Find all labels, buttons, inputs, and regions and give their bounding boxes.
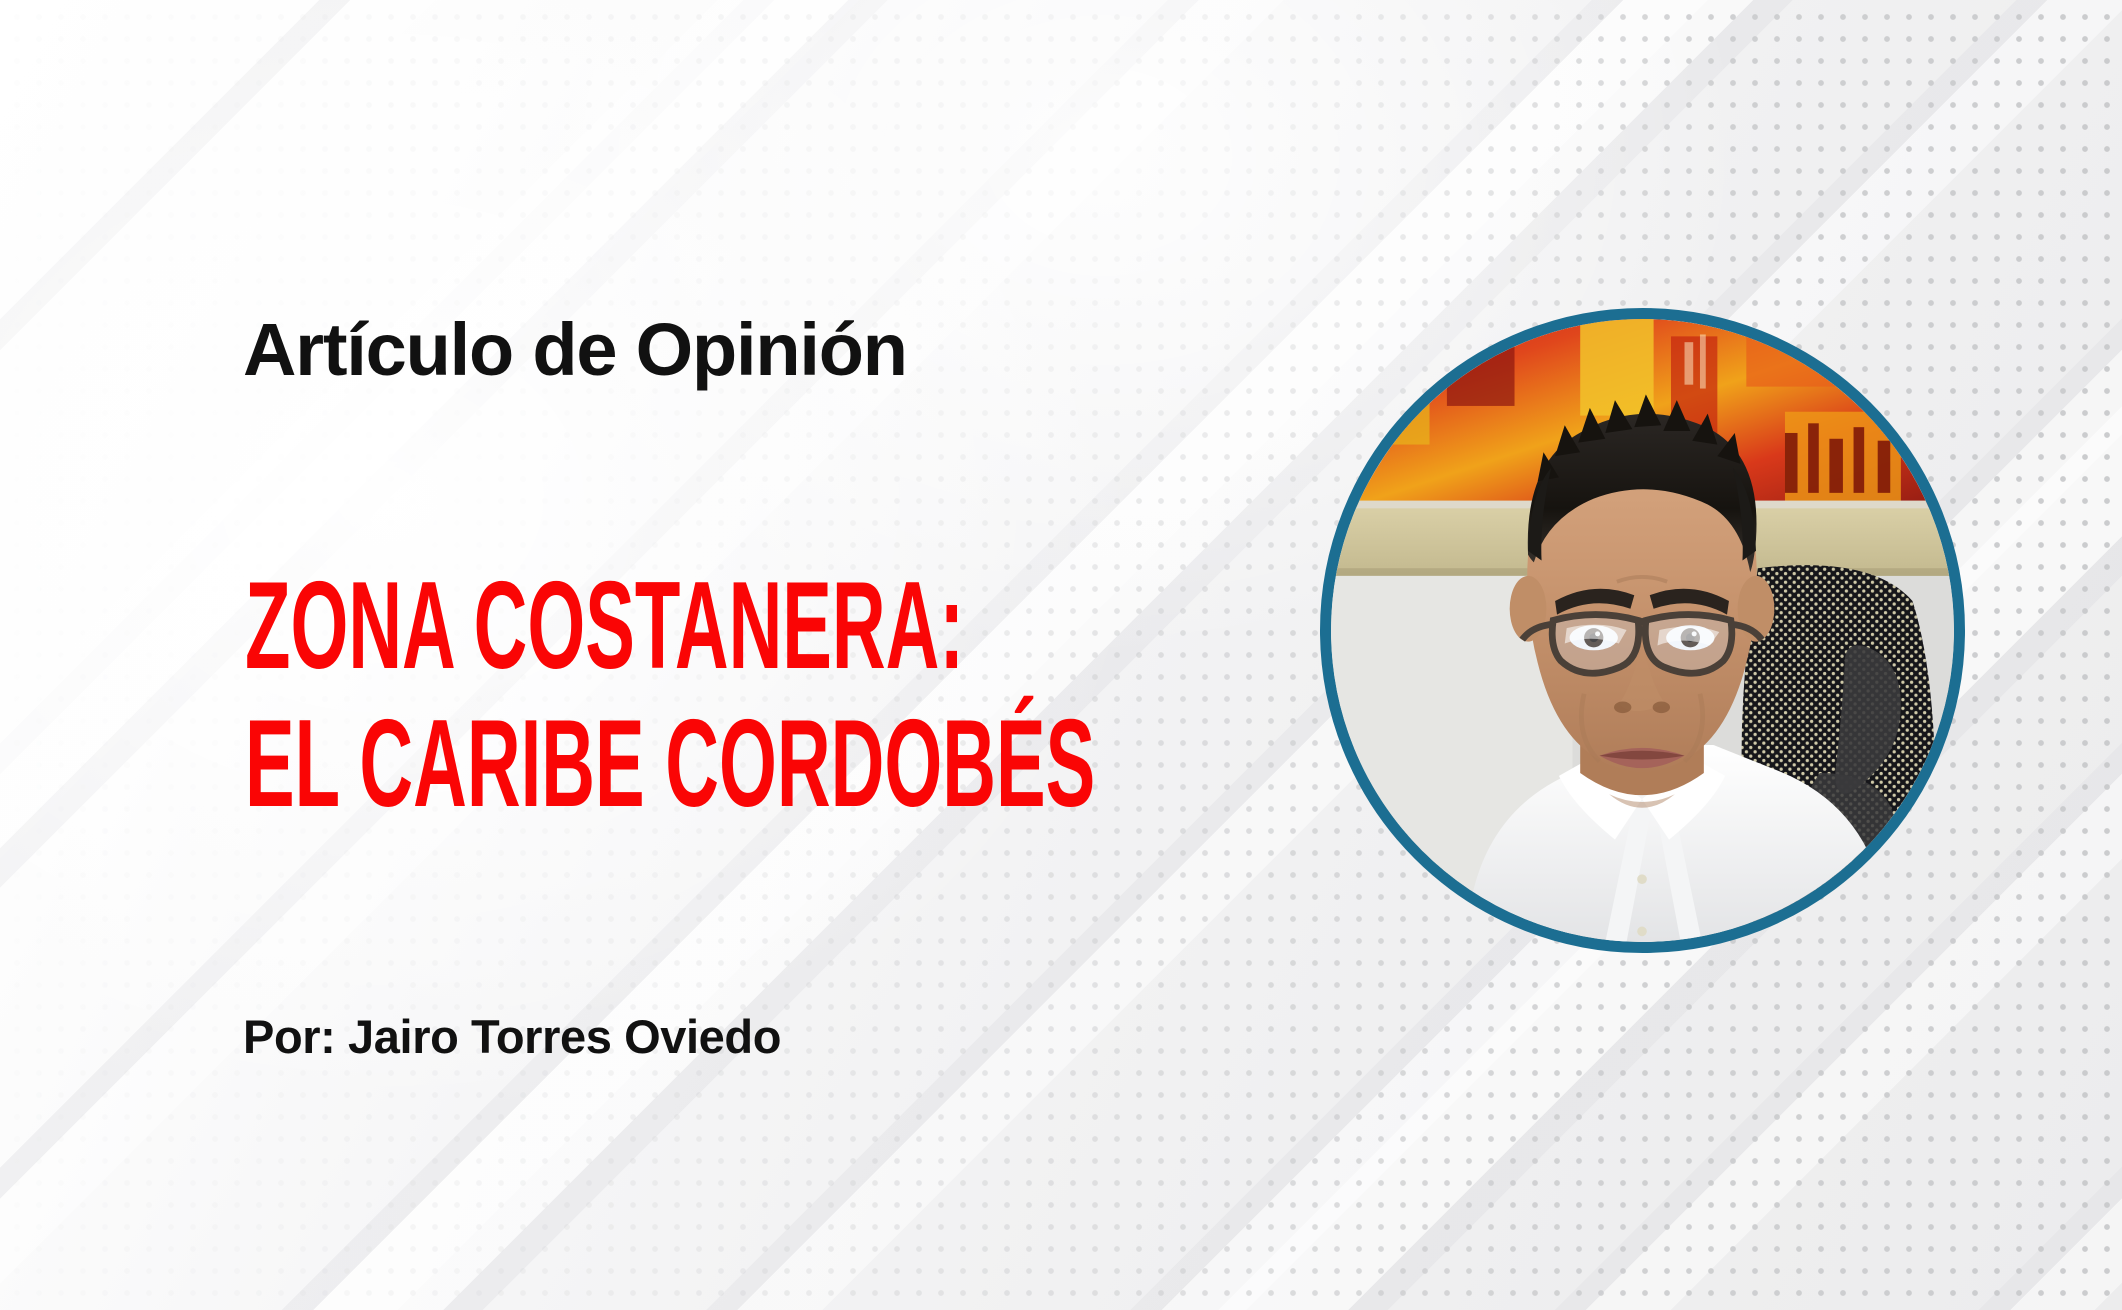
author-portrait-image xyxy=(1331,319,1954,942)
article-kicker: Artículo de Opinión xyxy=(243,313,907,387)
headline-line-2: EL CARIBE CORDOBÉS xyxy=(245,704,1095,826)
opinion-article-banner: Artículo de Opinión ZONA COSTANERA: EL C… xyxy=(0,0,2122,1310)
article-byline: Por: Jairo Torres Oviedo xyxy=(243,1013,781,1060)
author-portrait xyxy=(1320,308,1965,953)
portrait-photo-icon xyxy=(1331,319,1954,942)
headline-line-1: ZONA COSTANERA: xyxy=(245,566,1095,688)
